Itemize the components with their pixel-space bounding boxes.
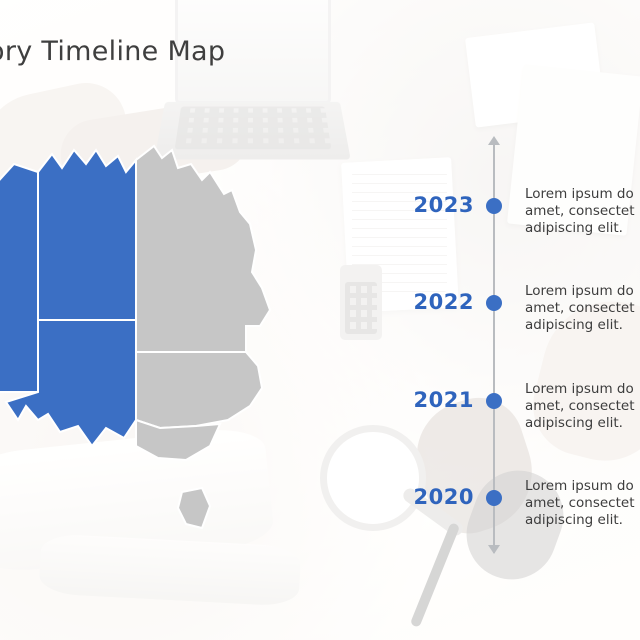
map-region-victoria[interactable] <box>136 420 220 460</box>
map-region-western-australia[interactable] <box>0 164 38 392</box>
timeline-year-label: 2022 <box>400 290 474 314</box>
timeline-description-line3: adipiscing elit. <box>525 512 640 529</box>
map-region-new-south-wales[interactable] <box>136 352 262 428</box>
timeline-year-label: 2021 <box>400 388 474 412</box>
timeline-item-2020[interactable]: 2020 Lorem ipsum do amet, consectet adip… <box>400 468 640 528</box>
australia-map <box>0 120 370 570</box>
timeline-description: Lorem ipsum do amet, consectet adipiscin… <box>525 186 640 237</box>
map-region-queensland[interactable] <box>136 146 270 352</box>
timeline-dot-icon[interactable] <box>486 393 502 409</box>
timeline-description: Lorem ipsum do amet, consectet adipiscin… <box>525 283 640 334</box>
timeline-item-2021[interactable]: 2021 Lorem ipsum do amet, consectet adip… <box>400 371 640 431</box>
timeline-description-line1: Lorem ipsum do <box>525 186 640 203</box>
timeline-description-line2: amet, consectet <box>525 398 640 415</box>
timeline-description: Lorem ipsum do amet, consectet adipiscin… <box>525 381 640 432</box>
timeline-dot-icon[interactable] <box>486 295 502 311</box>
timeline-year-label: 2020 <box>400 485 474 509</box>
timeline-dot-icon[interactable] <box>486 490 502 506</box>
timeline-description-line1: Lorem ipsum do <box>525 283 640 300</box>
timeline-item-2023[interactable]: 2023 Lorem ipsum do amet, consectet adip… <box>400 176 640 236</box>
map-region-northern-territory[interactable] <box>38 150 136 320</box>
timeline-description-line3: adipiscing elit. <box>525 220 640 237</box>
timeline-arrow-up-icon <box>488 136 500 145</box>
timeline-description-line2: amet, consectet <box>525 203 640 220</box>
timeline-description-line2: amet, consectet <box>525 495 640 512</box>
timeline-dot-icon[interactable] <box>486 198 502 214</box>
timeline-year-label: 2023 <box>400 193 474 217</box>
map-region-tasmania[interactable] <box>178 488 210 528</box>
timeline-description-line3: adipiscing elit. <box>525 415 640 432</box>
timeline-description-line1: Lorem ipsum do <box>525 381 640 398</box>
timeline-description: Lorem ipsum do amet, consectet adipiscin… <box>525 478 640 529</box>
page-title: ory Timeline Map <box>0 36 225 67</box>
timeline-description-line2: amet, consectet <box>525 300 640 317</box>
timeline-item-2022[interactable]: 2022 Lorem ipsum do amet, consectet adip… <box>400 273 640 333</box>
timeline-arrow-down-icon <box>488 545 500 554</box>
timeline-description-line1: Lorem ipsum do <box>525 478 640 495</box>
slide-canvas: ory Timeline Map 2023 Lorem ipsum do am <box>0 0 640 640</box>
timeline-description-line3: adipiscing elit. <box>525 317 640 334</box>
